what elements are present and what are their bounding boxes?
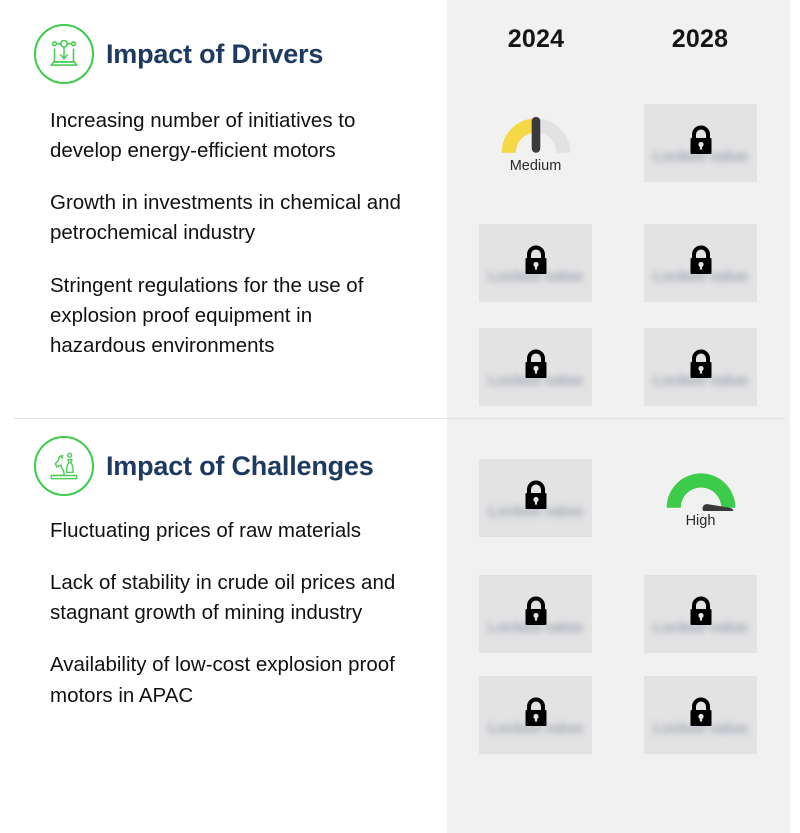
locked-cell[interactable]: Locked value — [479, 328, 592, 406]
gauge-medium: Medium — [497, 112, 575, 174]
locked-cell[interactable]: Locked value — [479, 224, 592, 302]
column-header-2028: 2028 — [640, 25, 760, 54]
cell-challenges-0-2028[interactable]: High — [644, 459, 757, 537]
cell-challenges-1-2024[interactable]: Locked value — [479, 575, 592, 653]
list-item: Growth in investments in chemical and pe… — [50, 188, 410, 248]
lock-icon — [686, 124, 716, 163]
cell-challenges-0-2024[interactable]: Locked value — [479, 459, 592, 537]
list-item: Increasing number of initiatives to deve… — [50, 106, 380, 166]
cell-drivers-2-2024[interactable]: Locked value — [479, 328, 592, 406]
lock-icon — [521, 348, 551, 387]
cell-drivers-0-2028[interactable]: Locked value — [644, 104, 757, 182]
section-header-drivers: Impact of Drivers — [34, 24, 323, 84]
cell-challenges-2-2028[interactable]: Locked value — [644, 676, 757, 754]
section-title-challenges: Impact of Challenges — [106, 451, 374, 482]
gauge-high: High — [662, 467, 740, 529]
lock-icon — [521, 479, 551, 518]
drivers-item-list: Increasing number of initiatives to deve… — [50, 106, 430, 383]
locked-cell[interactable]: Locked value — [644, 104, 757, 182]
list-item: Availability of low-cost explosion proof… — [50, 650, 410, 710]
chess-pieces-icon — [34, 436, 94, 496]
drivers-mechanism-icon — [34, 24, 94, 84]
impact-matrix-page: 2024 2028 Impact of Drivers Increas — [0, 0, 800, 833]
lock-icon — [686, 244, 716, 283]
gauge-label: High — [686, 513, 716, 529]
left-text-column: Impact of Drivers Increasing number of i… — [0, 0, 447, 833]
locked-cell[interactable]: Locked value — [479, 676, 592, 754]
gauge-icon — [497, 112, 575, 156]
column-header-2024: 2024 — [476, 25, 596, 54]
cell-drivers-1-2028[interactable]: Locked value — [644, 224, 757, 302]
cell-drivers-1-2024[interactable]: Locked value — [479, 224, 592, 302]
gauge-icon — [662, 467, 740, 511]
locked-cell[interactable]: Locked value — [644, 224, 757, 302]
lock-icon — [521, 595, 551, 634]
lock-icon — [521, 696, 551, 735]
lock-icon — [686, 348, 716, 387]
list-item: Lack of stability in crude oil prices an… — [50, 568, 410, 628]
section-title-drivers: Impact of Drivers — [106, 39, 323, 70]
cell-challenges-1-2028[interactable]: Locked value — [644, 575, 757, 653]
section-header-challenges: Impact of Challenges — [34, 436, 374, 496]
list-item: Fluctuating prices of raw materials — [50, 516, 380, 546]
gauge-label: Medium — [510, 158, 562, 174]
list-item: Stringent regulations for the use of exp… — [50, 271, 410, 361]
lock-icon — [686, 696, 716, 735]
cell-challenges-2-2024[interactable]: Locked value — [479, 676, 592, 754]
locked-cell[interactable]: Locked value — [644, 676, 757, 754]
challenges-item-list: Fluctuating prices of raw materials Lack… — [50, 516, 430, 733]
lock-icon — [521, 244, 551, 283]
locked-cell[interactable]: Locked value — [644, 575, 757, 653]
locked-cell[interactable]: Locked value — [479, 459, 592, 537]
lock-icon — [686, 595, 716, 634]
cell-drivers-0-2024[interactable]: Medium — [479, 104, 592, 182]
locked-cell[interactable]: Locked value — [644, 328, 757, 406]
cell-drivers-2-2028[interactable]: Locked value — [644, 328, 757, 406]
locked-cell[interactable]: Locked value — [479, 575, 592, 653]
